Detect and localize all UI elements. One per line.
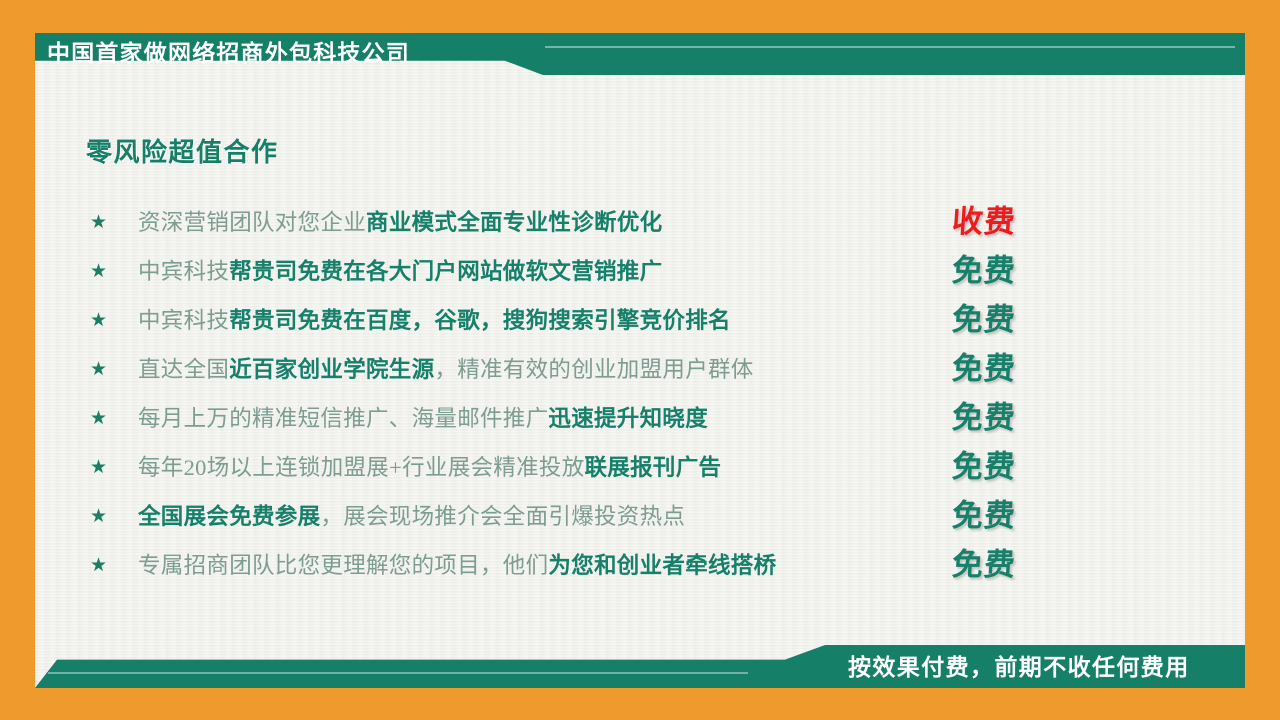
benefit-text-emphasis: 帮贵司免费在百度，谷歌，搜狗搜索引擎竞价排名 xyxy=(229,308,731,333)
price-badge: 免费 xyxy=(950,445,1073,489)
header-title: 中国首家做网络招商外包科技公司 xyxy=(47,36,410,70)
list-item: ★ 每年20场以上连锁加盟展+行业展会精准投放联展报刊广告 免费 xyxy=(90,443,1090,492)
footer-divider-line xyxy=(48,672,748,674)
price-badge: 免费 xyxy=(950,543,1073,587)
header-divider-line xyxy=(545,46,1235,48)
benefit-text: 直达全国近百家创业学院生源，精准有效的创业加盟用户群体 xyxy=(138,355,1090,385)
benefit-text: 中宾科技帮贵司免费在各大门户网站做软文营销推广 xyxy=(138,257,1090,287)
benefit-text-plain-prefix: 直达全国 xyxy=(138,357,229,382)
slide-canvas: 中国首家做网络招商外包科技公司 零风险超值合作 ★ 资深营销团队对您企业商业模式… xyxy=(0,0,1280,720)
price-badge: 免费 xyxy=(950,298,1073,342)
star-icon: ★ xyxy=(90,360,138,379)
star-icon: ★ xyxy=(90,311,138,330)
benefit-text: 每年20场以上连锁加盟展+行业展会精准投放联展报刊广告 xyxy=(138,453,1090,483)
benefit-text-plain-prefix: 每年20场以上连锁加盟展+行业展会精准投放 xyxy=(138,455,585,480)
star-icon: ★ xyxy=(90,213,138,232)
benefit-text-emphasis: 全国展会免费参展 xyxy=(138,504,320,529)
star-icon: ★ xyxy=(90,458,138,477)
benefit-text: 专属招商团队比您更理解您的项目，他们为您和创业者牵线搭桥 xyxy=(138,551,1090,581)
list-item: ★ 中宾科技帮贵司免费在百度，谷歌，搜狗搜索引擎竞价排名 免费 xyxy=(90,296,1090,345)
benefit-text: 全国展会免费参展，展会现场推介会全面引爆投资热点 xyxy=(138,502,1090,532)
star-icon: ★ xyxy=(90,262,138,281)
benefit-text: 每月上万的精准短信推广、海量邮件推广迅速提升知晓度 xyxy=(138,404,1090,434)
benefit-text-plain-prefix: 中宾科技 xyxy=(138,308,229,333)
star-icon: ★ xyxy=(90,409,138,428)
benefit-list: ★ 资深营销团队对您企业商业模式全面专业性诊断优化 收费 ★ 中宾科技帮贵司免费… xyxy=(90,198,1090,590)
benefit-text-plain-suffix: ，精准有效的创业加盟用户群体 xyxy=(434,357,753,382)
benefit-text: 中宾科技帮贵司免费在百度，谷歌，搜狗搜索引擎竞价排名 xyxy=(138,306,1090,336)
benefit-text-emphasis: 商业模式全面专业性诊断优化 xyxy=(366,210,662,235)
list-item: ★ 每月上万的精准短信推广、海量邮件推广迅速提升知晓度 免费 xyxy=(90,394,1090,443)
list-item: ★ 全国展会免费参展，展会现场推介会全面引爆投资热点 免费 xyxy=(90,492,1090,541)
benefit-text-plain-suffix: ，展会现场推介会全面引爆投资热点 xyxy=(320,504,685,529)
star-icon: ★ xyxy=(90,556,138,575)
benefit-text-emphasis: 帮贵司免费在各大门户网站做软文营销推广 xyxy=(229,259,662,284)
benefit-text: 资深营销团队对您企业商业模式全面专业性诊断优化 xyxy=(138,208,1090,238)
section-title: 零风险超值合作 xyxy=(86,134,279,170)
benefit-text-plain-prefix: 每月上万的精准短信推广、海量邮件推广 xyxy=(138,406,548,431)
benefit-text-plain-prefix: 资深营销团队对您企业 xyxy=(138,210,366,235)
price-badge: 免费 xyxy=(950,396,1073,440)
list-item: ★ 专属招商团队比您更理解您的项目，他们为您和创业者牵线搭桥 免费 xyxy=(90,541,1090,590)
price-badge: 收费 xyxy=(950,200,1073,244)
benefit-text-emphasis: 迅速提升知晓度 xyxy=(548,406,708,431)
benefit-text-plain-prefix: 中宾科技 xyxy=(138,259,229,284)
benefit-text-emphasis: 联展报刊广告 xyxy=(585,455,722,480)
price-badge: 免费 xyxy=(950,249,1073,293)
benefit-text-emphasis: 为您和创业者牵线搭桥 xyxy=(548,553,776,578)
price-badge: 免费 xyxy=(950,347,1073,391)
benefit-text-plain-prefix: 专属招商团队比您更理解您的项目，他们 xyxy=(138,553,548,578)
footer-tagline: 按效果付费，前期不收任何费用 xyxy=(848,650,1190,684)
price-badge: 免费 xyxy=(950,494,1073,538)
list-item: ★ 资深营销团队对您企业商业模式全面专业性诊断优化 收费 xyxy=(90,198,1090,247)
star-icon: ★ xyxy=(90,507,138,526)
list-item: ★ 中宾科技帮贵司免费在各大门户网站做软文营销推广 免费 xyxy=(90,247,1090,296)
list-item: ★ 直达全国近百家创业学院生源，精准有效的创业加盟用户群体 免费 xyxy=(90,345,1090,394)
benefit-text-emphasis: 近百家创业学院生源 xyxy=(229,357,434,382)
